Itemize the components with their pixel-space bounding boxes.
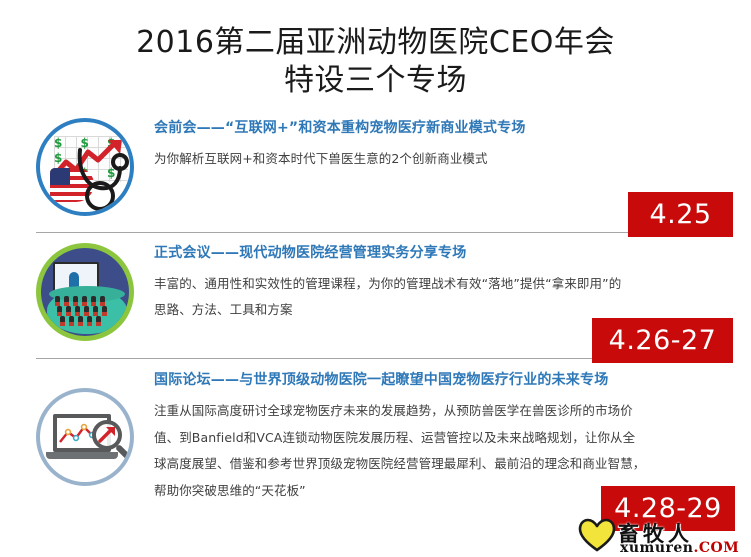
date-badge-2: 4.26-27	[592, 318, 733, 363]
laptop-base-shape	[46, 452, 118, 459]
audience-seats-shape	[53, 294, 123, 332]
divider-1	[36, 232, 716, 233]
section-2-body-line-1: 丰富的、通用性和实效性的管理课程，为你的管理战术有效“落地”提供“拿来即用”的	[154, 271, 721, 297]
section-2-body: 丰富的、通用性和实效性的管理课程，为你的管理战术有效“落地”提供“拿来即用”的 …	[154, 271, 721, 323]
poster-page: { "title": { "line1": "2016第二届亚洲动物医院CEO年…	[0, 0, 751, 557]
section-3-text: 国际论坛——与世界顶级动物医院一起瞭望中国宠物医疗行业的未来专场 注重从国际高度…	[154, 370, 751, 504]
icon-wrap-1: $ $ $ $$ $ $ $$ $ $ $	[36, 118, 134, 216]
section-1-text: 会前会——“互联网+”和资本重构宠物医疗新商业模式专场 为你解析互联网+和资本时…	[154, 118, 751, 172]
watermark: 畜牧人 xumuren.COM	[578, 512, 751, 557]
page-title: 2016第二届亚洲动物医院CEO年会 特设三个专场	[0, 24, 751, 100]
watermark-tld: .COM	[693, 540, 739, 556]
section-3-heading: 国际论坛——与世界顶级动物医院一起瞭望中国宠物医疗行业的未来专场	[154, 370, 721, 390]
stethoscope-icon	[70, 146, 132, 214]
date-badge-1: 4.25	[628, 192, 733, 237]
section-2-heading: 正式会议——现代动物医院经营管理实务分享专场	[154, 243, 721, 263]
red-arrow-up-icon	[96, 424, 118, 446]
conference-audience-icon	[36, 243, 134, 341]
section-1-heading: 会前会——“互联网+”和资本重构宠物医疗新商业模式专场	[154, 118, 721, 138]
watermark-text: 畜牧人 xumuren.COM	[618, 524, 693, 545]
section-2-text: 正式会议——现代动物医院经营管理实务分享专场 丰富的、通用性和实效性的管理课程，…	[154, 243, 751, 323]
section-3-body-line-1: 注重从国际高度研讨全球宠物医疗未来的发展趋势，从预防兽医学在兽医诊所的市场价	[154, 398, 721, 425]
heart-logo-icon	[578, 518, 616, 552]
section-main-conference: 正式会议——现代动物医院经营管理实务分享专场 丰富的、通用性和实效性的管理课程，…	[0, 243, 751, 323]
section-pre-conference: $ $ $ $$ $ $ $$ $ $ $ 会前会——“互联网+”和资本重构宠物…	[0, 118, 751, 172]
watermark-en: xumuren.COM	[620, 541, 739, 555]
laptop-chart-magnifier-icon	[36, 388, 134, 486]
chart-dollar-stethoscope-icon: $ $ $ $$ $ $ $$ $ $ $	[36, 118, 134, 216]
section-3-body-line-2: 值、到Banfield和VCA连锁动物医院发展历程、运营管控以及未来战略规划，让…	[154, 425, 721, 452]
watermark-en-name: xumuren	[620, 540, 693, 556]
title-line-2: 特设三个专场	[0, 62, 751, 100]
title-line-1: 2016第二届亚洲动物医院CEO年会	[0, 24, 751, 62]
section-3-body-line-3: 球高度展望、借鉴和参考世界顶级宠物医院经营管理最犀利、最前沿的理念和商业智慧，	[154, 451, 721, 478]
magnifier-glass-icon	[92, 420, 122, 450]
icon-wrap-3	[36, 388, 134, 486]
section-1-body: 为你解析互联网+和资本时代下兽医生意的2个创新商业模式	[154, 146, 721, 172]
section-international-forum: 国际论坛——与世界顶级动物医院一起瞭望中国宠物医疗行业的未来专场 注重从国际高度…	[0, 370, 751, 504]
section-1-body-line-1: 为你解析互联网+和资本时代下兽医生意的2个创新商业模式	[154, 146, 721, 172]
icon-wrap-2	[36, 243, 134, 341]
